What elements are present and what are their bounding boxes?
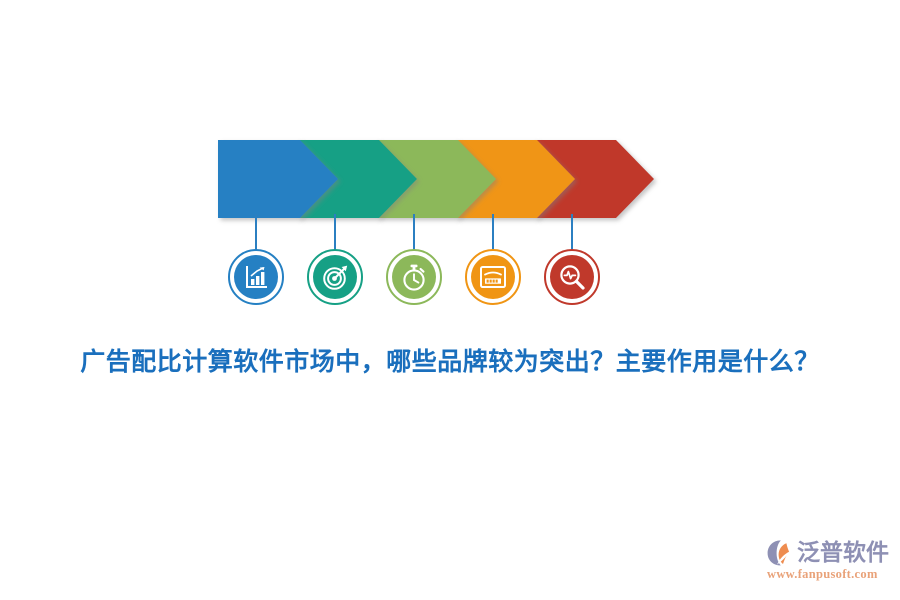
icon-node-3[interactable]: [386, 249, 442, 305]
search-pulse-icon: [559, 264, 585, 290]
icon-node-5[interactable]: [544, 249, 600, 305]
brand-logo[interactable]: 泛普软件 www.fanpusoft.com: [766, 538, 890, 586]
icon-node-2[interactable]: [307, 249, 363, 305]
bar-chart-icon: [243, 264, 269, 290]
signboard-icon: [480, 266, 506, 288]
icon-node-1[interactable]: [228, 249, 284, 305]
page-title: 广告配比计算软件市场中，哪些品牌较为突出？主要作用是什么？: [0, 342, 900, 378]
icon-node-row: [0, 0, 900, 600]
logo-wordmark: 泛普软件: [797, 538, 889, 568]
stopwatch-icon: [401, 264, 427, 291]
logo-row: 泛普软件: [766, 538, 890, 568]
target-icon: [322, 264, 349, 291]
logo-url: www.fanpusoft.com: [767, 567, 890, 582]
fanpu-logo-mark-icon: [766, 538, 796, 568]
icon-node-4[interactable]: [465, 249, 521, 305]
page-root: 广告配比计算软件市场中，哪些品牌较为突出？主要作用是什么？ 泛普软件 www.f…: [0, 0, 900, 600]
